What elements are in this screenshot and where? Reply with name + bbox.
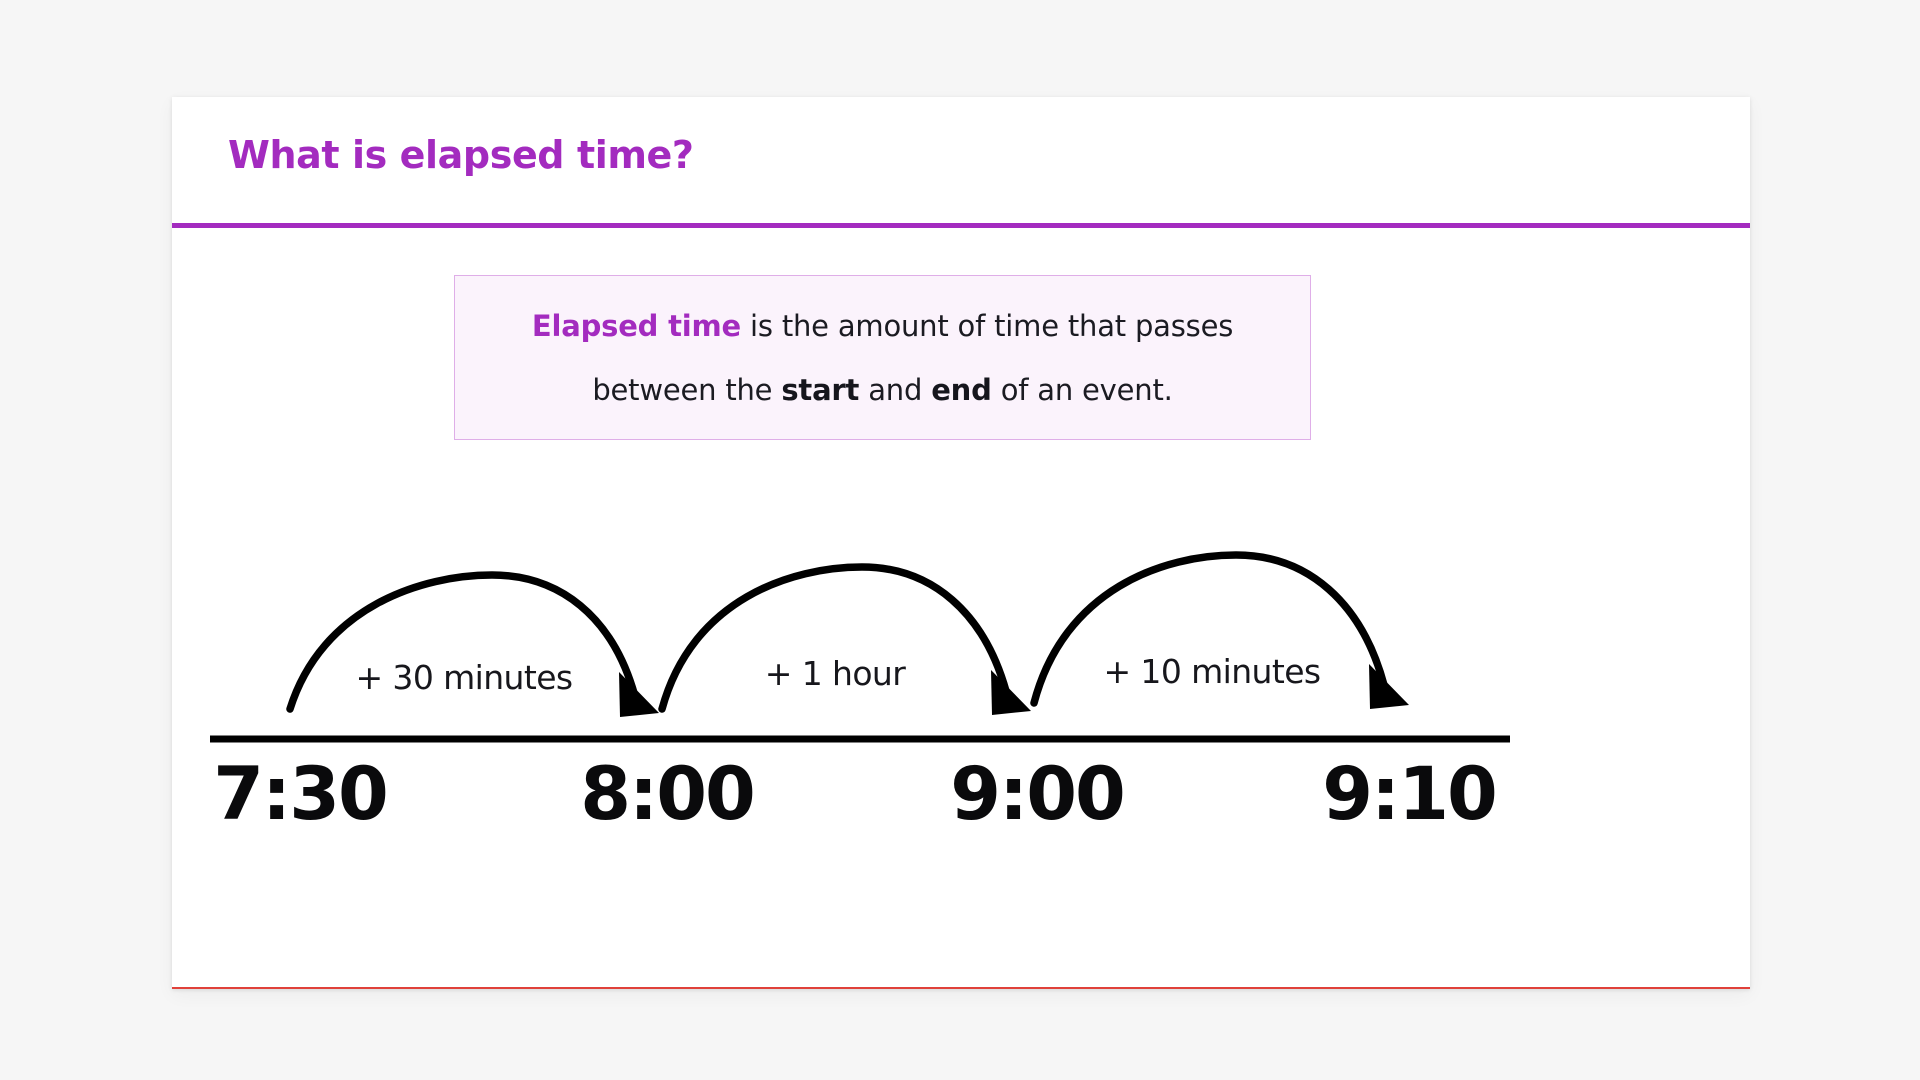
jump-arc-3: + 10 minutes [1034, 555, 1409, 709]
definition-line-2-suffix: of an event. [992, 373, 1173, 407]
time-label-1: 7:30 [213, 752, 387, 837]
arc-label-3: + 10 minutes [1103, 652, 1320, 691]
timeline-svg: + 30 minutes + 1 hour + 10 minutes [172, 467, 1750, 847]
lesson-card: What is elapsed time? Elapsed time is th… [172, 97, 1750, 989]
page-title: What is elapsed time? [228, 133, 694, 177]
jump-arc-2: + 1 hour [662, 567, 1031, 715]
time-label-2: 8:00 [580, 752, 754, 837]
page-root: What is elapsed time? Elapsed time is th… [0, 0, 1920, 1080]
time-label-3: 9:00 [950, 752, 1124, 837]
definition-line-1-rest: is the amount of time that passes [741, 309, 1233, 343]
definition-bold-end: end [931, 373, 991, 407]
card-header: What is elapsed time? [172, 97, 1750, 225]
definition-bold-start: start [781, 373, 859, 407]
arrow-head-2 [991, 670, 1031, 715]
elapsed-time-number-line: + 30 minutes + 1 hour + 10 minutes [172, 467, 1750, 847]
definition-callout: Elapsed time is the amount of time that … [454, 275, 1311, 440]
arc-label-2: + 1 hour [765, 654, 906, 693]
arrow-head-3 [1369, 664, 1409, 709]
definition-keyword: Elapsed time [532, 309, 741, 343]
time-label-4: 9:10 [1322, 752, 1496, 837]
definition-line-2-middle: and [859, 373, 931, 407]
jump-arc-1: + 30 minutes [290, 575, 659, 717]
definition-line-2-prefix: between the [592, 373, 781, 407]
definition-line-1: Elapsed time is the amount of time that … [532, 294, 1233, 358]
arrow-head-1 [619, 672, 659, 717]
arc-label-1: + 30 minutes [355, 658, 572, 697]
definition-line-2: between the start and end of an event. [592, 358, 1172, 422]
header-divider [172, 223, 1750, 228]
